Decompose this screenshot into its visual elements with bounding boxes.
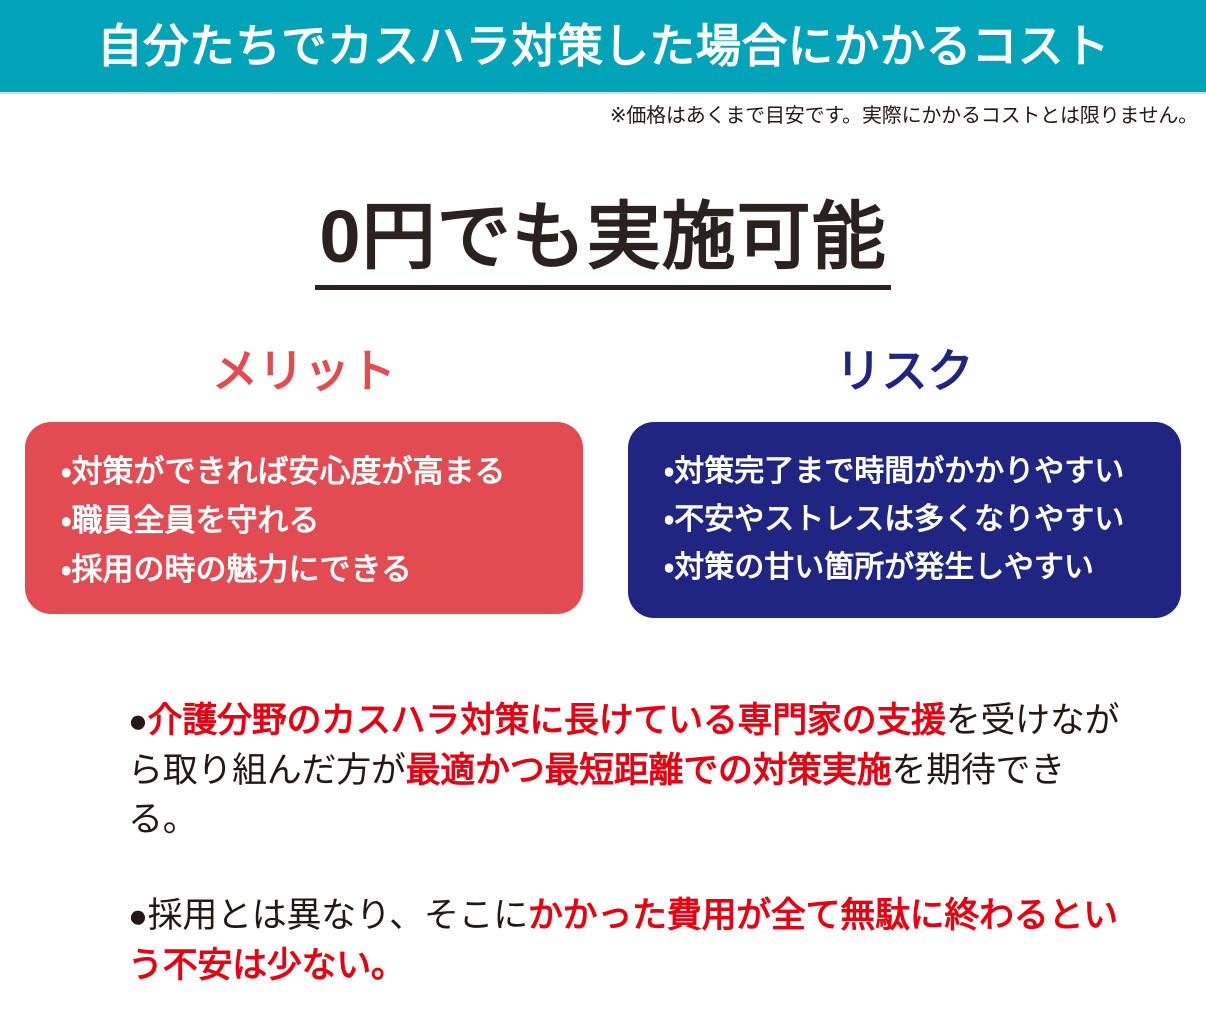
list-item: ・職員全員を守れる — [61, 497, 583, 546]
bullet-segment-emphasis: 最適かつ最短距離での対策実施 — [406, 751, 892, 790]
bullet-marker-icon: ● — [128, 702, 148, 739]
header-band: 自分たちでカスハラ対策した場合にかかるコスト — [0, 0, 1206, 92]
list-item: ・不安やストレスは多くなりやすい — [664, 496, 1181, 544]
merit-heading: メリット — [25, 348, 583, 394]
list-item: ・対策完了まで時間がかかりやすい — [664, 448, 1181, 496]
page-title: 自分たちでカスハラ対策した場合にかかるコスト — [97, 23, 1110, 69]
bullet-marker-icon: ● — [128, 897, 148, 934]
disclaimer-note: ※価格はあくまで目安です。実際にかかるコストとは限りません。 — [610, 104, 1198, 128]
bullet-item: ●介護分野のカスハラ対策に長けている専門家の支援を受けながら取り組んだ方が最適か… — [128, 696, 1128, 845]
merit-list: ・対策ができれば安心度が高まる ・職員全員を守れる ・採用の時の魅力にできる — [61, 448, 583, 595]
list-item: ・採用の時の魅力にできる — [61, 546, 583, 595]
main-headline: 0円でも実施可能 — [315, 196, 890, 290]
risk-panel: ・対策完了まで時間がかかりやすい ・不安やストレスは多くなりやすい ・対策の甘い… — [628, 422, 1181, 618]
header-divider — [0, 92, 1206, 94]
risk-list: ・対策完了まで時間がかかりやすい ・不安やストレスは多くなりやすい ・対策の甘い… — [664, 448, 1181, 592]
list-item: ・対策ができれば安心度が高まる — [61, 448, 583, 497]
merit-panel: ・対策ができれば安心度が高まる ・職員全員を守れる ・採用の時の魅力にできる — [25, 422, 583, 614]
bullet-segment-emphasis: 介護分野のカスハラ対策に長けている専門家の支援 — [148, 701, 946, 740]
bullet-list: ●介護分野のカスハラ対策に長けている専門家の支援を受けながら取り組んだ方が最適か… — [128, 696, 1128, 990]
list-item: ・対策の甘い箇所が発生しやすい — [664, 544, 1181, 592]
risk-heading: リスク — [628, 348, 1181, 394]
headline-container: 0円でも実施可能 — [0, 196, 1206, 290]
column-headings: メリット リスク — [0, 348, 1206, 408]
bullet-segment-plain: 採用とは異なり、そこに — [148, 896, 528, 935]
bullet-item: ●採用とは異なり、そこにかかった費用が全て無駄に終わるという不安は少ない。 — [128, 891, 1128, 990]
